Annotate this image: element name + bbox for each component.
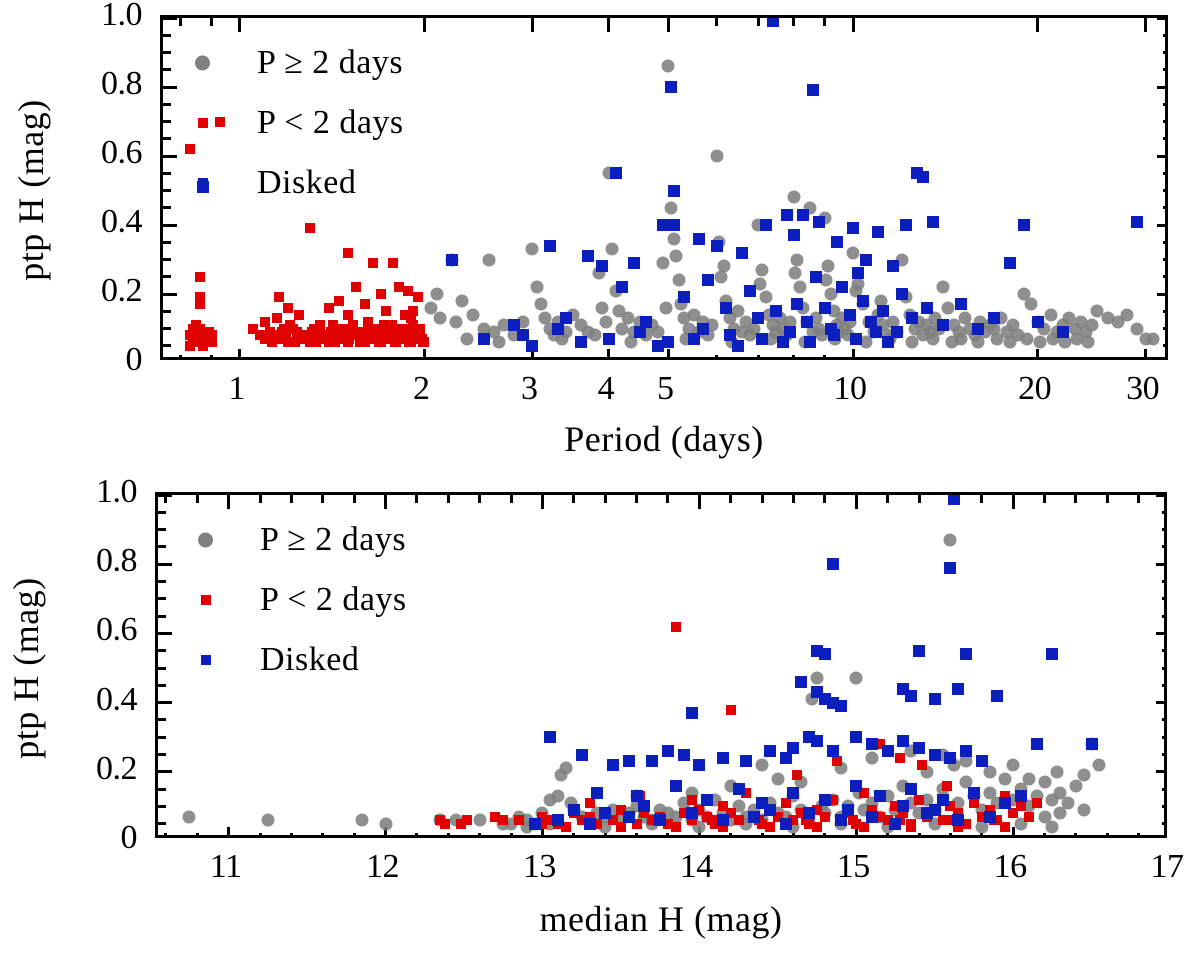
axis-tick	[1163, 120, 1168, 123]
axis-tick	[949, 495, 952, 503]
axis-tick	[353, 495, 356, 503]
legend-median-h: P ≥ 2 days P < 2 days Disked	[198, 517, 618, 687]
axis-tick	[886, 833, 889, 838]
axis-tick	[980, 833, 983, 838]
axis-tick	[1036, 349, 1039, 360]
legend-label-p-ge-2: P ≥ 2 days	[257, 44, 403, 82]
y-tick-label: 0.6	[4, 136, 142, 170]
axis-tick	[1074, 495, 1077, 503]
axis-tick	[572, 495, 575, 503]
x-axis-ticklabels-bottom: 11121314151617	[0, 850, 1200, 896]
legend-marker-red-square-icon	[201, 595, 211, 605]
x-tick-label: 13	[523, 850, 556, 884]
axis-tick	[666, 495, 669, 503]
axis-tick	[478, 833, 481, 838]
axis-tick	[1137, 833, 1140, 838]
x-tick-label: 20	[1018, 372, 1051, 406]
axis-tick	[290, 495, 293, 503]
axis-tick	[698, 495, 701, 509]
axis-tick	[1106, 495, 1109, 503]
axis-tick	[227, 495, 230, 509]
y-tick-label: 0.8	[4, 67, 142, 101]
axis-tick	[179, 18, 182, 26]
axis-tick	[1156, 563, 1167, 566]
axis-tick	[541, 495, 544, 509]
x-tick-label: 3	[521, 372, 538, 406]
axis-tick	[918, 495, 921, 503]
axis-tick	[852, 349, 855, 360]
x-tick-label: 1	[228, 372, 245, 406]
axis-tick	[729, 495, 732, 503]
axis-tick	[163, 327, 171, 330]
axis-tick	[447, 495, 450, 503]
y-axis-ticklabels-bottom: 00.20.40.60.81.0	[0, 478, 145, 858]
axis-tick	[1162, 753, 1167, 756]
axis-tick	[259, 833, 262, 838]
axis-tick	[1162, 615, 1167, 618]
axis-tick	[158, 718, 166, 721]
plot-area-period[interactable]: P ≥ 2 days P < 2 days Disked	[160, 15, 1168, 360]
legend-marker-gray-circle-icon	[198, 533, 213, 548]
axis-tick	[886, 495, 889, 503]
axis-tick	[158, 684, 166, 687]
axis-tick	[1157, 86, 1168, 89]
x-tick-label: 14	[680, 850, 713, 884]
axis-tick	[163, 172, 171, 175]
axis-tick	[1162, 788, 1167, 791]
axis-tick	[163, 68, 171, 71]
legend-label-disked: Disked	[257, 164, 356, 202]
axis-tick	[196, 495, 199, 503]
axis-tick	[158, 494, 172, 497]
axis-tick	[1162, 667, 1167, 670]
axis-tick	[1106, 833, 1109, 838]
axis-tick	[918, 833, 921, 838]
y-tick-label: 1.0	[4, 0, 142, 32]
legend-row-p-ge-2[interactable]: P ≥ 2 days	[195, 48, 615, 78]
axis-tick	[1012, 827, 1015, 838]
axis-tick	[761, 495, 764, 503]
axis-tick	[1162, 528, 1167, 531]
axis-tick	[1163, 344, 1168, 347]
axis-tick	[1036, 18, 1039, 32]
axis-tick	[852, 18, 855, 32]
axis-tick	[163, 51, 171, 54]
axis-tick	[510, 833, 513, 838]
y-tick-label: 0.6	[4, 613, 137, 647]
axis-tick	[1163, 137, 1168, 140]
x-tick-label: 30	[1126, 372, 1159, 406]
axis-tick	[1157, 17, 1168, 20]
axis-tick	[1162, 597, 1167, 600]
axis-tick	[607, 349, 610, 360]
axis-tick	[1162, 822, 1167, 825]
axis-tick	[163, 241, 171, 244]
axis-tick	[1074, 833, 1077, 838]
axis-tick	[158, 770, 172, 773]
axis-tick	[1144, 349, 1147, 360]
axis-tick	[1157, 224, 1168, 227]
axis-tick	[1163, 241, 1168, 244]
axis-tick	[1137, 495, 1140, 503]
legend-label-p-ge-2-bottom: P ≥ 2 days	[260, 521, 406, 559]
axis-tick	[757, 18, 760, 26]
axis-tick	[415, 833, 418, 838]
axis-tick	[666, 833, 669, 838]
axis-tick	[1163, 103, 1168, 106]
axis-tick	[792, 355, 795, 360]
axis-tick	[635, 833, 638, 838]
axis-tick	[757, 355, 760, 360]
axis-tick	[158, 736, 166, 739]
axis-tick	[158, 615, 166, 618]
legend-label-p-lt-2-bottom: P < 2 days	[260, 581, 407, 619]
legend-row-disked[interactable]: Disked	[195, 168, 615, 198]
y-tick-label: 0.4	[4, 205, 142, 239]
axis-tick	[321, 495, 324, 503]
legend-label-p-lt-2: P < 2 days	[257, 104, 404, 142]
axis-tick	[164, 833, 167, 838]
axis-tick	[163, 189, 171, 192]
axis-tick	[1163, 34, 1168, 37]
axis-tick	[604, 833, 607, 838]
axis-tick	[729, 833, 732, 838]
axis-tick	[163, 293, 177, 296]
axis-tick	[447, 833, 450, 838]
legend-marker-red-square-icon	[198, 118, 208, 128]
axis-tick	[196, 833, 199, 838]
x-axis-ticklabels-top: 12345102030	[0, 372, 1200, 418]
axis-tick	[353, 833, 356, 838]
axis-tick	[1162, 684, 1167, 687]
y-tick-label: 1.0	[4, 475, 137, 509]
legend-marker-blue-square-icon	[198, 178, 208, 188]
axis-tick	[227, 827, 230, 838]
axis-tick	[980, 495, 983, 503]
legend-label-disked-bottom: Disked	[260, 641, 359, 679]
axis-tick	[158, 545, 166, 548]
axis-tick	[792, 18, 795, 26]
axis-tick	[163, 310, 171, 313]
axis-tick	[210, 355, 213, 360]
x-tick-label: 17	[1151, 850, 1184, 884]
axis-tick	[1163, 189, 1168, 192]
axis-tick	[384, 827, 387, 838]
axis-tick	[1162, 736, 1167, 739]
axis-tick	[572, 833, 575, 838]
axis-tick	[1163, 68, 1168, 71]
axis-tick	[158, 597, 166, 600]
axis-tick	[158, 528, 166, 531]
axis-tick	[423, 18, 426, 32]
y-tick-label: 0.4	[4, 683, 137, 717]
axis-tick	[163, 86, 177, 89]
axis-tick	[158, 788, 166, 791]
legend-row-p-ge-2-bottom[interactable]: P ≥ 2 days	[198, 525, 618, 555]
axis-tick	[158, 667, 166, 670]
axis-tick	[1162, 511, 1167, 514]
axis-tick	[163, 155, 177, 158]
axis-tick	[1163, 51, 1168, 54]
axis-tick	[1163, 275, 1168, 278]
axis-tick	[158, 563, 172, 566]
axis-tick	[163, 275, 171, 278]
axis-tick	[163, 137, 171, 140]
legend-row-p-lt-2-bottom[interactable]: P < 2 days	[198, 585, 618, 615]
figure-root: ptp H (mag) 00.20.40.60.81.0 P ≥ 2 days …	[0, 0, 1200, 960]
axis-tick	[238, 18, 241, 32]
axis-tick	[158, 632, 172, 635]
axis-tick	[667, 349, 670, 360]
axis-tick	[1163, 258, 1168, 261]
axis-label-x-top: Period (days)	[160, 418, 1168, 460]
axis-tick	[238, 349, 241, 360]
axis-tick	[949, 833, 952, 838]
axis-tick	[1156, 701, 1167, 704]
axis-tick	[1156, 770, 1167, 773]
axis-tick	[179, 355, 182, 360]
axis-tick	[823, 833, 826, 838]
axis-tick	[823, 18, 826, 26]
axis-tick	[1157, 293, 1168, 296]
x-tick-label: 5	[657, 372, 674, 406]
axis-tick	[607, 18, 610, 32]
axis-tick	[163, 206, 171, 209]
axis-tick	[158, 580, 166, 583]
axis-tick	[158, 805, 166, 808]
axis-tick	[1144, 18, 1147, 32]
x-tick-label: 4	[598, 372, 615, 406]
x-tick-label: 10	[834, 372, 867, 406]
axis-tick	[1163, 310, 1168, 313]
axis-tick	[1043, 495, 1046, 503]
axis-tick	[855, 827, 858, 838]
axis-tick	[163, 34, 171, 37]
y-tick-label: 0.2	[4, 274, 142, 308]
x-tick-label: 15	[837, 850, 870, 884]
legend-row-p-lt-2[interactable]: P < 2 days	[195, 108, 615, 138]
axis-tick	[1163, 327, 1168, 330]
axis-tick	[158, 649, 166, 652]
axis-tick	[210, 18, 213, 26]
axis-tick	[158, 822, 166, 825]
axis-tick	[384, 495, 387, 509]
panel-period: ptp H (mag) 00.20.40.60.81.0 P ≥ 2 days …	[0, 0, 1200, 470]
axis-tick	[1156, 632, 1167, 635]
x-tick-label: 2	[413, 372, 430, 406]
axis-tick	[698, 827, 701, 838]
axis-tick	[635, 495, 638, 503]
axis-tick	[163, 344, 171, 347]
legend-period: P ≥ 2 days P < 2 days Disked	[195, 40, 615, 210]
legend-marker-blue-square-icon	[201, 655, 211, 665]
legend-marker-gray-circle-icon	[195, 56, 210, 71]
axis-tick	[1162, 718, 1167, 721]
axis-tick	[604, 495, 607, 503]
axis-tick	[415, 495, 418, 503]
axis-tick	[531, 349, 534, 360]
axis-tick	[715, 18, 718, 26]
axis-tick	[290, 833, 293, 838]
axis-tick	[531, 18, 534, 32]
x-tick-label: 12	[366, 850, 399, 884]
axis-tick	[1043, 833, 1046, 838]
y-axis-ticklabels-top: 00.20.40.60.81.0	[0, 0, 150, 380]
axis-tick	[423, 349, 426, 360]
axis-tick	[792, 833, 795, 838]
axis-tick	[1162, 580, 1167, 583]
axis-tick	[163, 258, 171, 261]
axis-tick	[823, 355, 826, 360]
axis-tick	[259, 495, 262, 503]
axis-tick	[478, 495, 481, 503]
plot-area-median-h[interactable]: P ≥ 2 days P < 2 days Disked	[155, 492, 1167, 838]
axis-tick	[158, 701, 172, 704]
axis-tick	[1163, 206, 1168, 209]
axis-tick	[158, 511, 166, 514]
axis-tick	[761, 833, 764, 838]
axis-tick	[163, 120, 171, 123]
axis-tick	[667, 18, 670, 32]
axis-tick	[1163, 172, 1168, 175]
y-tick-label: 0.2	[4, 752, 137, 786]
x-tick-label: 11	[210, 850, 242, 884]
x-tick-label: 16	[994, 850, 1027, 884]
legend-row-disked-bottom[interactable]: Disked	[198, 645, 618, 675]
axis-tick	[1012, 495, 1015, 509]
axis-tick	[823, 495, 826, 503]
axis-tick	[321, 833, 324, 838]
axis-tick	[541, 827, 544, 838]
axis-tick	[1162, 545, 1167, 548]
axis-tick	[163, 224, 177, 227]
axis-tick	[855, 495, 858, 509]
axis-tick	[792, 495, 795, 503]
axis-tick	[1157, 155, 1168, 158]
panel-median-h: ptp H (mag) 00.20.40.60.81.0 P ≥ 2 days …	[0, 478, 1200, 960]
axis-tick	[510, 495, 513, 503]
axis-tick	[1162, 805, 1167, 808]
axis-tick	[1162, 649, 1167, 652]
axis-tick	[1156, 494, 1167, 497]
axis-tick	[163, 103, 171, 106]
axis-tick	[163, 17, 177, 20]
y-tick-label: 0.8	[4, 544, 137, 578]
axis-label-x-bottom: median H (mag)	[155, 898, 1167, 940]
axis-tick	[715, 355, 718, 360]
axis-tick	[158, 753, 166, 756]
